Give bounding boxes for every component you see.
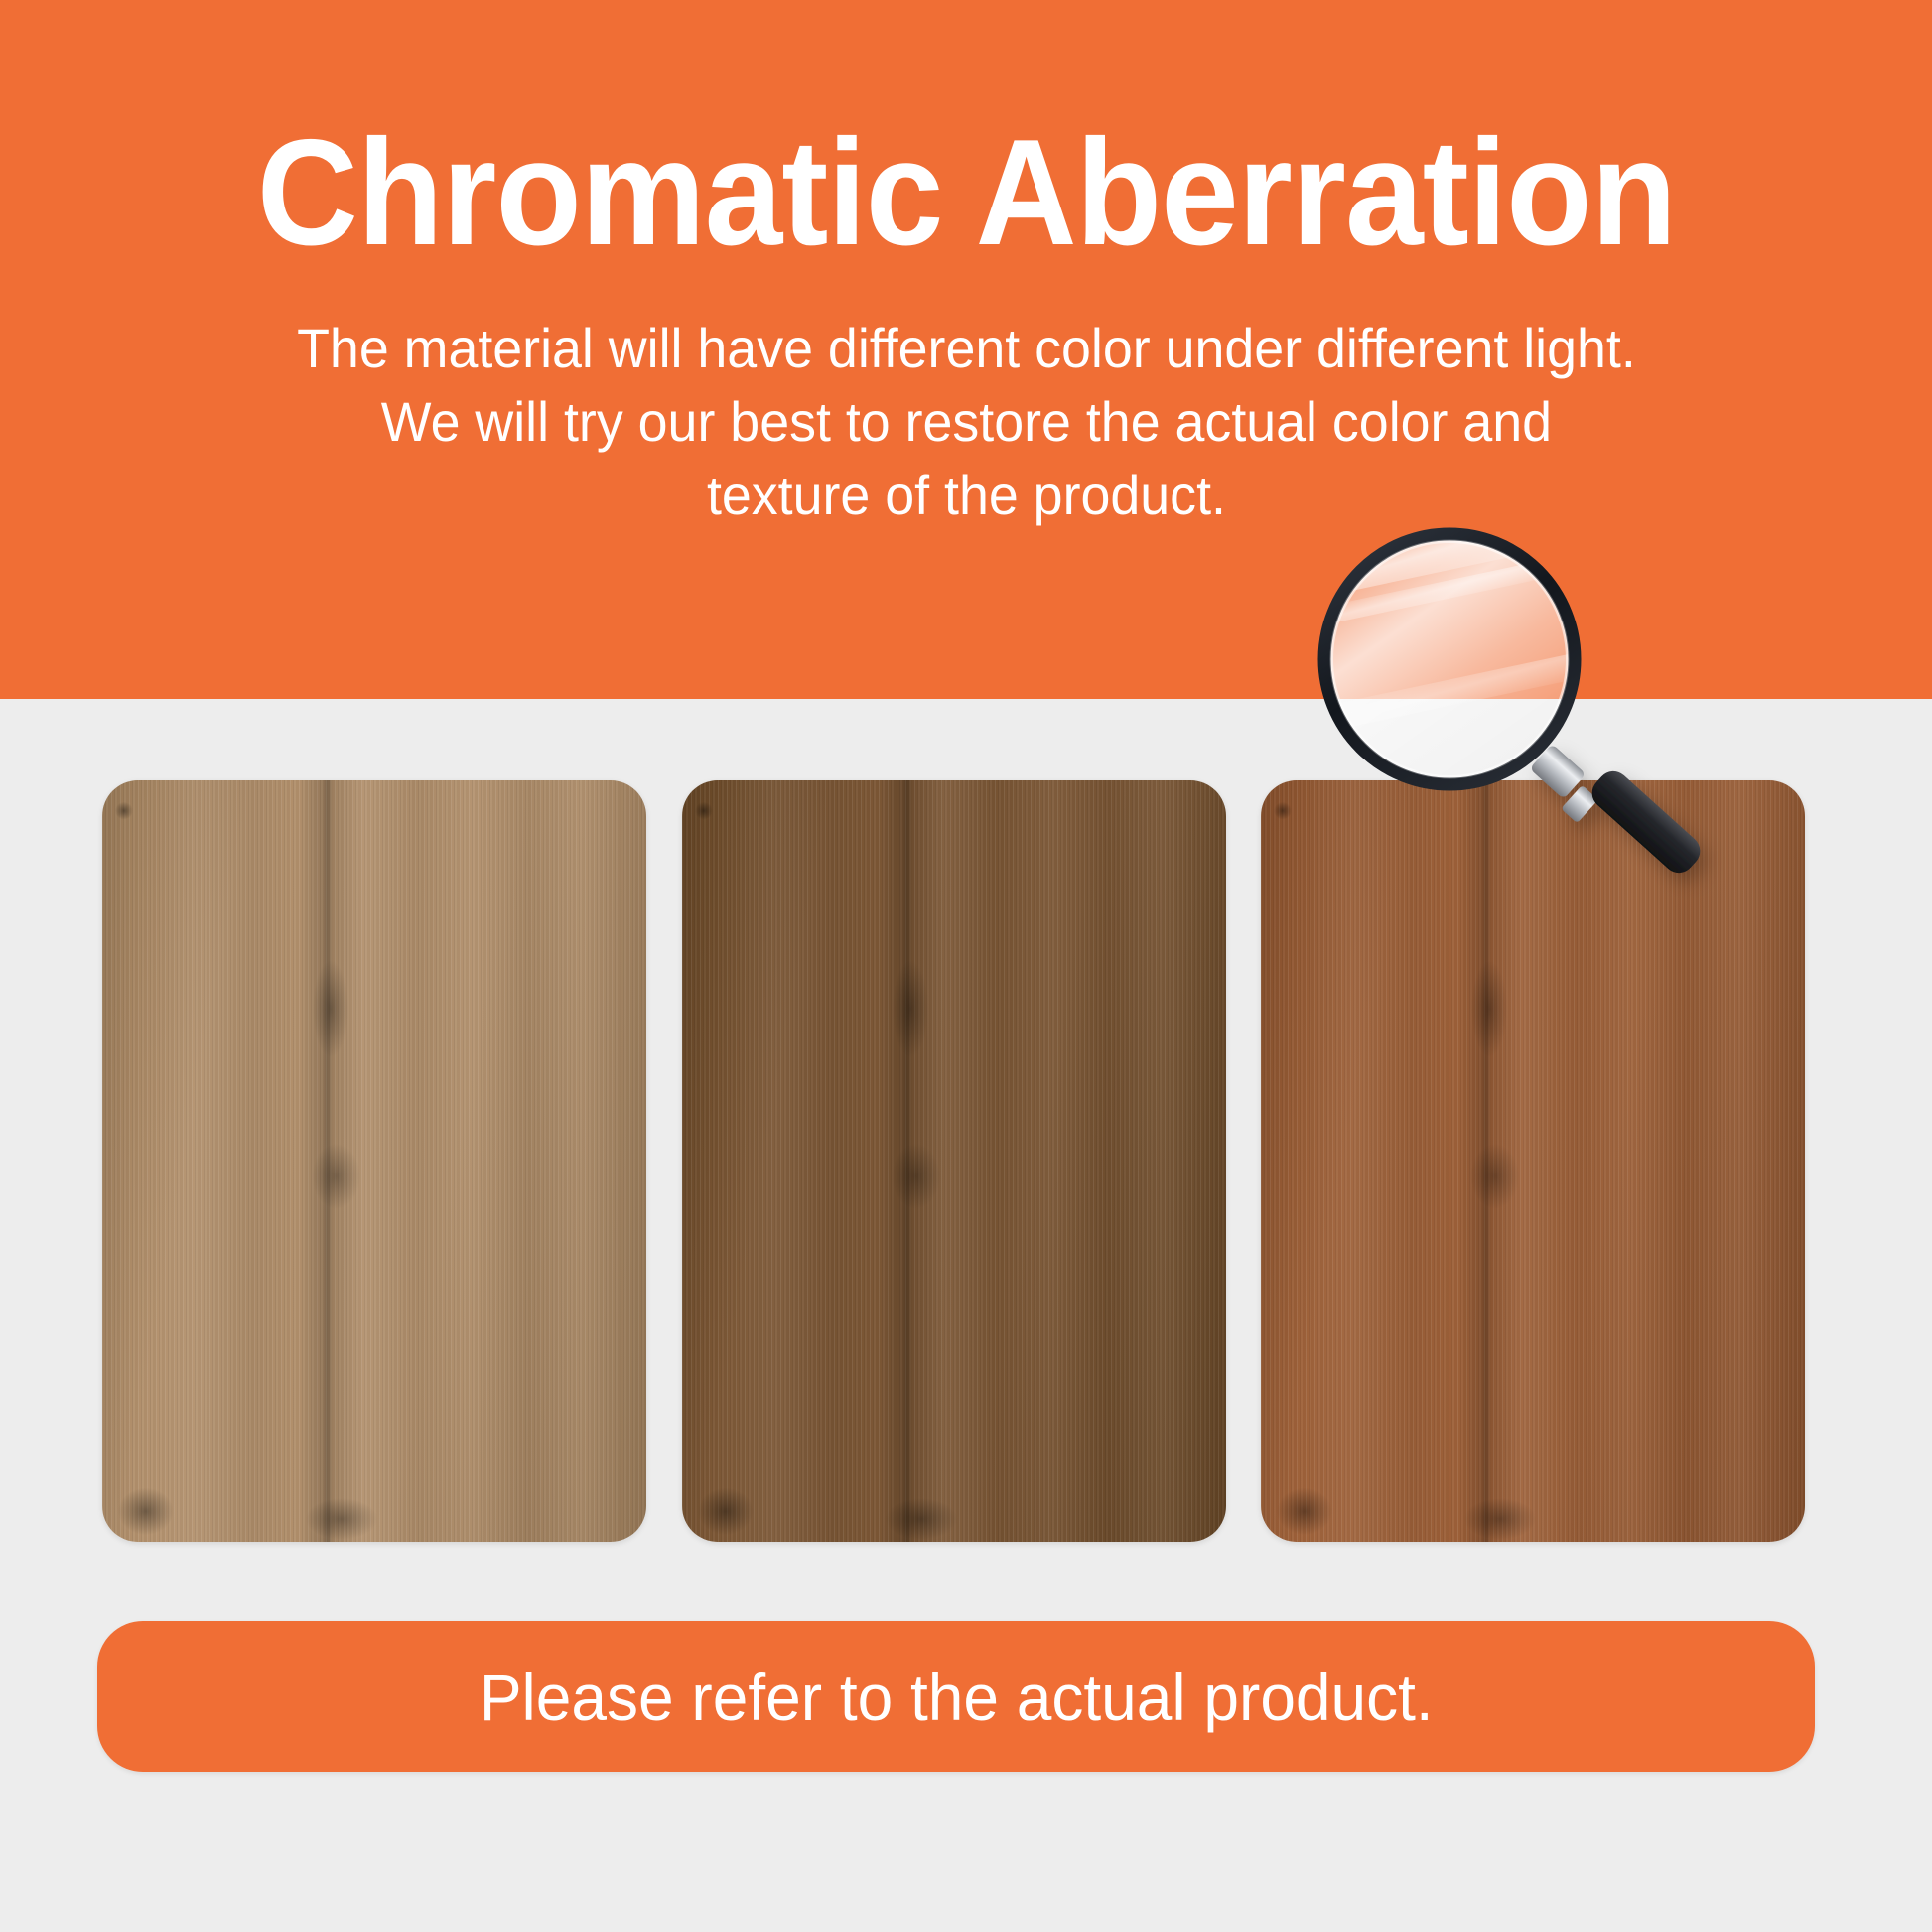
red-oak-swatch (1261, 780, 1805, 1542)
page-title: Chromatic Aberration (256, 117, 1675, 268)
subtitle-line-3: texture of the product. (297, 459, 1636, 532)
header-content: Chromatic Aberration The material will h… (0, 0, 1932, 699)
color-swatch-row (102, 780, 1805, 1542)
banner-label: Please refer to the actual product. (480, 1659, 1434, 1734)
light-oak-swatch (102, 780, 646, 1542)
subtitle-line-1: The material will have different color u… (297, 312, 1636, 385)
wood-grain-texture (682, 780, 1226, 1542)
actual-product-banner: Please refer to the actual product. (97, 1621, 1815, 1772)
header-banner: Chromatic Aberration The material will h… (0, 0, 1932, 699)
dark-walnut-swatch (682, 780, 1226, 1542)
subtitle-line-2: We will try our best to restore the actu… (297, 385, 1636, 459)
header-subtitle: The material will have different color u… (297, 312, 1636, 532)
wood-grain-texture (1261, 780, 1805, 1542)
wood-grain-texture (102, 780, 646, 1542)
